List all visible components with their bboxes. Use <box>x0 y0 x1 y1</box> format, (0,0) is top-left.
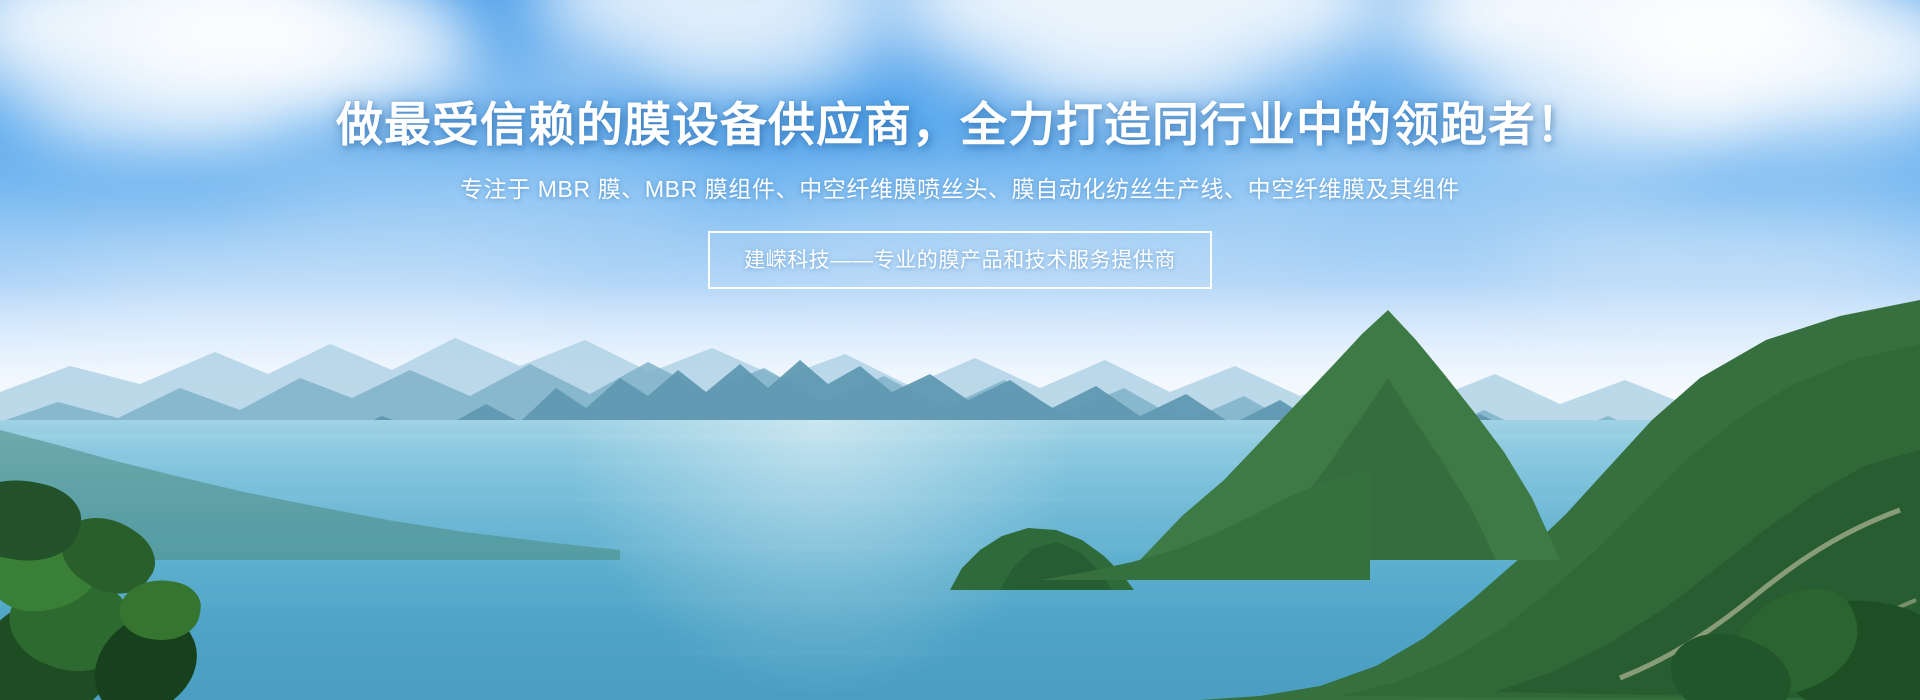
peninsula-mid <box>1040 470 1370 580</box>
banner-tagline-box: 建嵘科技——专业的膜产品和技术服务提供商 <box>708 231 1212 289</box>
banner-tagline-wrap: 建嵘科技——专业的膜产品和技术服务提供商 <box>0 205 1920 289</box>
foreground-foliage-left <box>0 470 230 700</box>
banner-subtitle: 专注于 MBR 膜、MBR 膜组件、中空纤维膜喷丝头、膜自动化纺丝生产线、中空纤… <box>0 150 1920 205</box>
banner-copy: 做最受信赖的膜设备供应商，全力打造同行业中的领跑者！ 专注于 MBR 膜、MBR… <box>0 0 1920 289</box>
foreground-foliage-right <box>1660 520 1920 700</box>
hero-banner: 做最受信赖的膜设备供应商，全力打造同行业中的领跑者！ 专注于 MBR 膜、MBR… <box>0 0 1920 700</box>
banner-headline: 做最受信赖的膜设备供应商，全力打造同行业中的领跑者！ <box>0 0 1920 150</box>
